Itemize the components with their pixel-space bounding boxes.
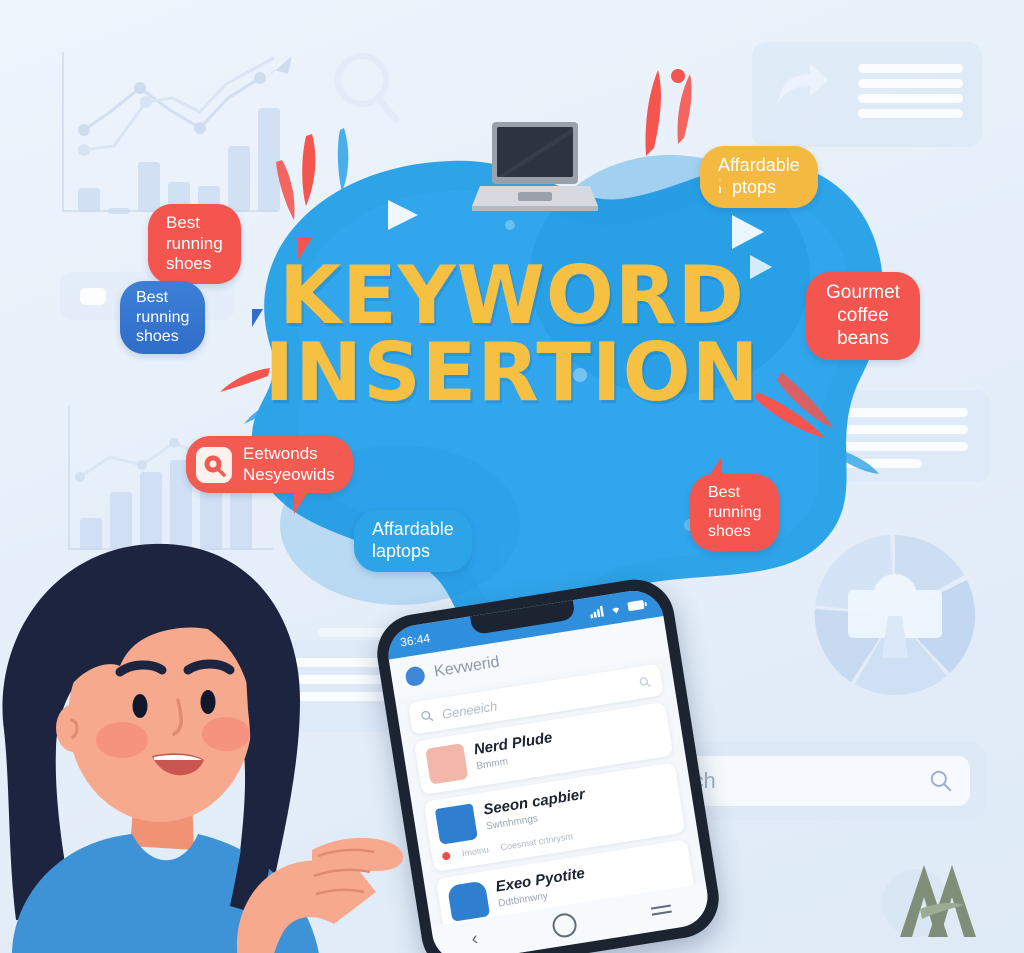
bubble-tail xyxy=(252,309,263,327)
poster-canvas: Search xyxy=(0,0,1024,953)
circle-home-icon[interactable] xyxy=(551,912,578,939)
confetti-left xyxy=(270,120,390,230)
bubble-label: Best running shoes xyxy=(120,281,205,354)
bubble-label: Best running shoes xyxy=(148,204,241,284)
bubble-tail xyxy=(298,238,312,260)
avatar xyxy=(425,743,468,785)
bubble-tail xyxy=(294,492,308,514)
phone-mockup: 36:44 xyxy=(372,568,765,953)
wifi-icon xyxy=(608,602,624,615)
woman-illustration xyxy=(0,520,412,953)
status-badge xyxy=(442,851,451,860)
bubble-tail xyxy=(708,456,722,478)
app-title: Kevwerid xyxy=(433,653,501,681)
background-text-line xyxy=(858,79,963,88)
list-item-badge: Imoinu xyxy=(461,844,489,858)
brand-watermark xyxy=(866,853,996,945)
search-icon xyxy=(638,674,653,689)
menu-lines-icon[interactable] xyxy=(651,905,672,916)
phone-body: 36:44 xyxy=(372,574,725,953)
search-icon xyxy=(419,708,435,724)
bubble-tail xyxy=(820,328,836,352)
list-item-meta: Coesmat crtnrysm xyxy=(500,831,574,852)
bubble-tail xyxy=(500,544,514,566)
chevron-left-icon[interactable]: ‹ xyxy=(470,928,480,951)
search-icon xyxy=(196,447,232,483)
bubble-label: Best running shoes xyxy=(690,474,779,551)
bubble-tail xyxy=(716,180,732,206)
laptop-illustration xyxy=(470,118,600,228)
signal-bars-icon xyxy=(589,605,605,618)
battery-icon xyxy=(627,598,648,612)
folder-icon xyxy=(435,803,478,845)
background-text-line xyxy=(858,64,963,73)
bubble-label: Eetwonds Nesyeowids xyxy=(243,444,335,485)
phone-screen: 36:44 xyxy=(384,586,712,953)
search-icon xyxy=(928,768,954,794)
bag-icon xyxy=(447,880,490,922)
